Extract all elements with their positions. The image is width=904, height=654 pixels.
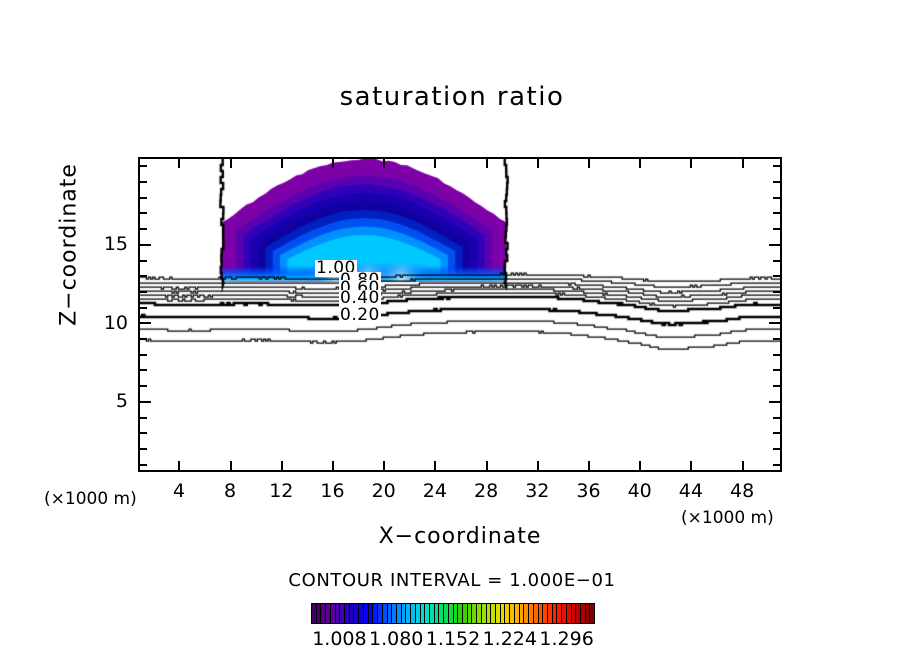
x-tick-label: 12 — [269, 480, 293, 502]
y-tick-mark-minor — [140, 432, 147, 434]
y-tick-mark-minor — [773, 197, 780, 199]
contour-level-label: 0.20 — [339, 307, 381, 324]
y-tick-mark-minor — [773, 181, 780, 183]
contour-interval-caption: CONTOUR INTERVAL = 1.000E−01 — [0, 570, 904, 591]
y-tick-mark-minor — [140, 275, 147, 277]
colorbar-cell — [590, 604, 594, 623]
x-tick-mark — [742, 159, 744, 168]
x-tick-mark — [742, 461, 744, 470]
x-tick-label: 8 — [224, 480, 236, 502]
y-tick-mark-minor — [140, 338, 147, 340]
y-tick-label: 10 — [76, 312, 128, 334]
x-tick-label: 36 — [576, 480, 600, 502]
y-tick-mark-major — [769, 244, 780, 246]
x-tick-mark — [486, 461, 488, 470]
y-tick-mark-minor — [773, 369, 780, 371]
x-tick-label: 4 — [173, 480, 185, 502]
x-tick-mark — [230, 461, 232, 470]
x-tick-mark — [332, 159, 334, 168]
y-tick-mark-minor — [773, 228, 780, 230]
x-tick-mark — [383, 159, 385, 168]
y-tick-mark-minor — [140, 260, 147, 262]
y-tick-mark-minor — [773, 432, 780, 434]
colorbar-tick-label: 1.224 — [483, 628, 537, 650]
y-tick-mark-minor — [773, 385, 780, 387]
x-tick-label: 40 — [628, 480, 652, 502]
x-tick-mark — [383, 461, 385, 470]
y-tick-mark-minor — [140, 448, 147, 450]
colorbar — [311, 603, 595, 624]
y-tick-mark-minor — [773, 275, 780, 277]
y-tick-mark-minor — [140, 181, 147, 183]
y-tick-mark-minor — [140, 417, 147, 419]
y-tick-mark-minor — [773, 307, 780, 309]
x-tick-mark — [281, 159, 283, 168]
x-axis-unit-note: (×1000 m) — [681, 508, 774, 528]
x-tick-mark — [537, 159, 539, 168]
x-tick-label: 32 — [525, 480, 549, 502]
contour-field-canvas — [140, 159, 780, 470]
y-tick-label: 5 — [76, 390, 128, 412]
x-tick-label: 44 — [679, 480, 703, 502]
x-tick-mark — [537, 461, 539, 470]
y-axis-title: Z−coordinate — [57, 130, 82, 360]
y-tick-mark-minor — [140, 307, 147, 309]
x-tick-mark — [486, 159, 488, 168]
x-tick-mark — [690, 159, 692, 168]
x-tick-mark — [588, 461, 590, 470]
x-tick-mark — [178, 159, 180, 168]
x-tick-mark — [639, 159, 641, 168]
x-tick-mark — [434, 159, 436, 168]
y-tick-mark-minor — [140, 197, 147, 199]
x-tick-label: 28 — [474, 480, 498, 502]
y-tick-mark-minor — [140, 369, 147, 371]
y-tick-mark-minor — [140, 165, 147, 167]
y-axis-unit-note: (×1000 m) — [44, 489, 137, 509]
y-tick-mark-minor — [773, 448, 780, 450]
y-tick-label: 15 — [76, 233, 128, 255]
x-tick-mark — [588, 159, 590, 168]
x-tick-label: 20 — [372, 480, 396, 502]
y-tick-mark-minor — [140, 291, 147, 293]
y-tick-mark-minor — [140, 354, 147, 356]
y-tick-mark-major — [140, 322, 151, 324]
y-tick-mark-minor — [773, 165, 780, 167]
x-tick-mark — [434, 461, 436, 470]
y-tick-mark-minor — [773, 212, 780, 214]
x-tick-mark — [178, 461, 180, 470]
x-tick-mark — [230, 159, 232, 168]
y-tick-mark-minor — [140, 385, 147, 387]
y-tick-mark-minor — [140, 228, 147, 230]
colorbar-tick-label: 1.152 — [426, 628, 480, 650]
x-tick-mark — [690, 461, 692, 470]
y-tick-mark-minor — [140, 212, 147, 214]
y-tick-mark-minor — [773, 338, 780, 340]
figure-title: saturation ratio — [0, 82, 904, 112]
y-tick-mark-major — [769, 401, 780, 403]
y-tick-mark-major — [769, 322, 780, 324]
y-tick-mark-minor — [140, 464, 147, 466]
y-tick-mark-minor — [773, 291, 780, 293]
x-tick-label: 48 — [730, 480, 754, 502]
y-tick-mark-minor — [773, 260, 780, 262]
colorbar-tick-label: 1.296 — [539, 628, 593, 650]
x-tick-mark — [281, 461, 283, 470]
y-tick-mark-minor — [773, 417, 780, 419]
x-tick-label: 24 — [423, 480, 447, 502]
x-tick-mark — [332, 461, 334, 470]
y-tick-mark-major — [140, 244, 151, 246]
x-tick-label: 16 — [320, 480, 344, 502]
colorbar-tick-label: 1.080 — [369, 628, 423, 650]
x-tick-mark — [639, 461, 641, 470]
y-tick-mark-minor — [773, 354, 780, 356]
contour-figure: saturation ratio 1.000.800.600.400.20 48… — [0, 0, 904, 654]
plot-area: 1.000.800.600.400.20 — [138, 157, 782, 472]
colorbar-tick-label: 1.008 — [312, 628, 366, 650]
y-tick-mark-minor — [773, 464, 780, 466]
y-tick-mark-major — [140, 401, 151, 403]
